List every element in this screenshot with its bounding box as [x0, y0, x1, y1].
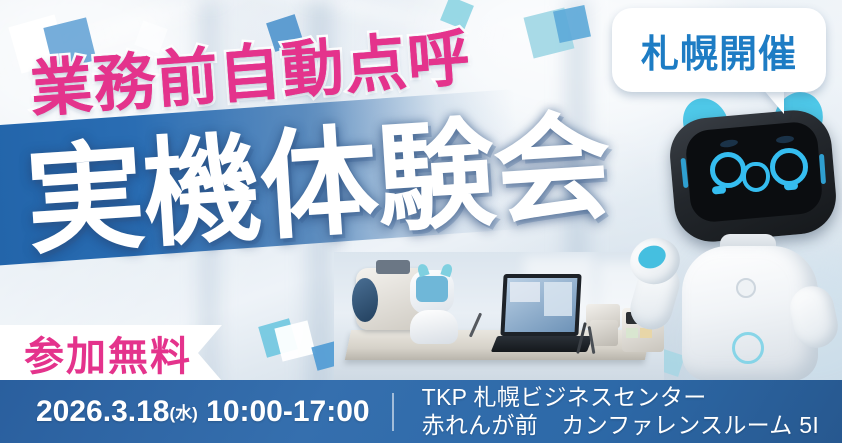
event-venue: TKP 札幌ビジネスセンター 赤れんが前 カンファレンスルーム 5I: [422, 384, 819, 438]
event-date: 2026.3.18: [36, 395, 169, 428]
price-badge-label: 参加無料: [24, 324, 192, 382]
event-banner: 業務前自動点呼 業務前自動点呼 実機体験会 札幌開催 参加無料 2026.3.1…: [0, 0, 842, 443]
info-divider: [392, 393, 394, 431]
info-bar: 2026.3.18(水) 10:00-17:00 TKP 札幌ビジネスセンター …: [0, 380, 842, 443]
robot-mascot: [636, 96, 842, 381]
venue-line-1: TKP 札幌ビジネスセンター: [422, 384, 819, 411]
event-datetime: 2026.3.18(水) 10:00-17:00: [36, 395, 370, 429]
event-day-of-week: (水): [169, 404, 197, 423]
venue-line-2: 赤れんが前 カンファレンスルーム 5I: [422, 412, 819, 439]
price-badge: 参加無料: [0, 325, 222, 381]
decorative-square: [553, 5, 591, 43]
location-badge-label: 札幌開催: [641, 23, 797, 78]
location-badge: 札幌開催: [612, 8, 826, 92]
demo-equipment-photo: [334, 252, 664, 380]
event-time: 10:00-17:00: [206, 395, 369, 428]
